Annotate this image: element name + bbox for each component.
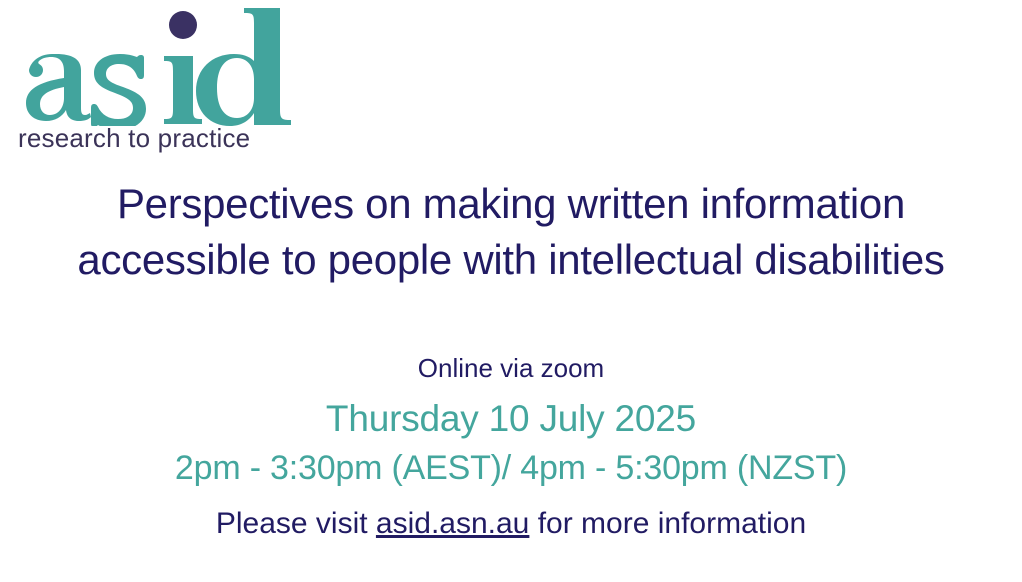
event-date: Thursday 10 July 2025 bbox=[0, 398, 1022, 440]
event-title: Perspectives on making written informati… bbox=[61, 176, 961, 288]
footer-suffix-text: for more information bbox=[529, 507, 806, 540]
event-delivery-mode: Online via zoom bbox=[0, 352, 1022, 384]
webinar-promo-slide: Webinar research to practice Perspective… bbox=[0, 0, 1022, 582]
event-footer: Please visit asid.asn.au for more inform… bbox=[0, 506, 1022, 542]
footer-prefix-text: Please visit bbox=[216, 507, 376, 540]
event-time: 2pm - 3:30pm (AEST)/ 4pm - 5:30pm (NZST) bbox=[0, 448, 1022, 488]
asid-website-link[interactable]: asid.asn.au bbox=[376, 507, 529, 540]
event-details: Perspectives on making written informati… bbox=[0, 0, 1022, 582]
